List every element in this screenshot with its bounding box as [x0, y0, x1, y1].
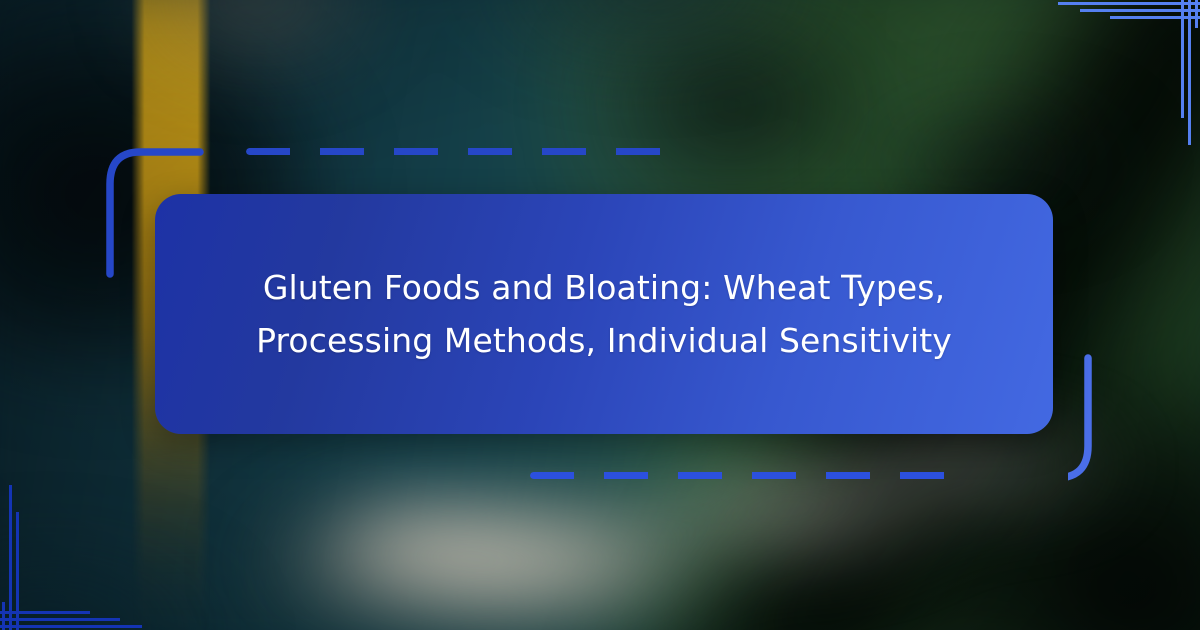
dashed-rule-top: [246, 148, 672, 155]
page-title: Gluten Foods and Bloating: Wheat Types, …: [217, 261, 991, 368]
dashed-rule-bottom: [530, 472, 962, 479]
title-card: Gluten Foods and Bloating: Wheat Types, …: [155, 194, 1053, 434]
social-card-canvas: Gluten Foods and Bloating: Wheat Types, …: [0, 0, 1200, 630]
